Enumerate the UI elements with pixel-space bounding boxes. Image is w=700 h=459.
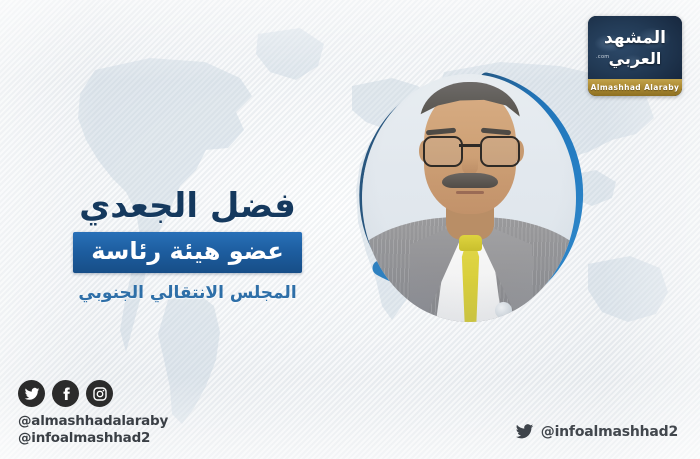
photo-canvas	[362, 74, 576, 322]
photo-lens-right	[480, 136, 520, 167]
logo-arabic-line1: المشهد	[604, 28, 666, 48]
subject-organization: المجلس الانتقالي الجنوبي	[60, 282, 315, 304]
photo-glasses-bridge	[459, 144, 480, 147]
portrait-container	[336, 62, 604, 334]
photo-mouth	[456, 191, 484, 194]
subject-text-block: فضل الجعدي عضو هيئة رئاسة المجلس الانتقا…	[60, 186, 315, 304]
handle-primary[interactable]: @almashhadalaraby	[18, 413, 168, 430]
photo-tie-knot	[459, 235, 482, 251]
photo-mustache	[442, 173, 498, 188]
portrait-photo	[362, 74, 576, 322]
twitter-icon[interactable]	[18, 380, 45, 407]
social-media-card: المشهد العربي .com Almashhad Alaraby	[0, 0, 700, 459]
twitter-bird-icon	[515, 422, 534, 441]
social-links-block: @almashhadalaraby @infoalmashhad2	[18, 380, 168, 447]
footer-twitter-block[interactable]: @infoalmashhad2	[515, 422, 678, 441]
instagram-icon[interactable]	[86, 380, 113, 407]
social-icon-row	[18, 380, 168, 407]
photo-lens-left	[423, 136, 463, 167]
logo-dotcom-text: .com	[596, 54, 609, 60]
footer-twitter-handle[interactable]: @infoalmashhad2	[541, 424, 678, 440]
subject-role-badge: عضو هيئة رئاسة	[73, 232, 302, 273]
subject-name: فضل الجعدي	[60, 186, 315, 226]
facebook-icon[interactable]	[52, 380, 79, 407]
handle-secondary[interactable]: @infoalmashhad2	[18, 430, 168, 447]
